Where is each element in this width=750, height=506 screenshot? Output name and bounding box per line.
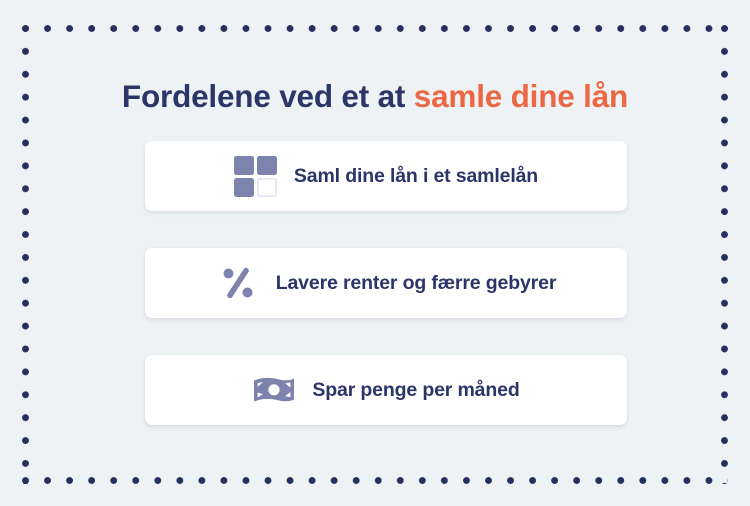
page-title-navy-part: Fordelene ved et at — [122, 78, 414, 114]
border-dots-top — [22, 25, 728, 32]
benefit-card-label: Lavere renter og færre gebyrer — [276, 272, 557, 295]
benefit-card-saml-dine-laan[interactable]: Saml dine lån i et samlelån — [145, 141, 627, 211]
grid-squares-icon-shape — [234, 156, 277, 197]
grid-square-bottom-right — [257, 178, 277, 197]
grid-square-top-right — [257, 156, 277, 175]
grid-square-top-left — [234, 156, 254, 175]
banknote-icon — [252, 368, 296, 412]
benefit-card-list: Saml dine lån i et samlelån Lavere rente… — [145, 141, 627, 425]
percent-icon — [216, 261, 260, 305]
benefit-card-label: Spar penge per måned — [312, 379, 519, 402]
banknote-icon-shape — [252, 374, 296, 406]
percent-icon-shape — [218, 263, 258, 303]
benefit-card-content: Saml dine lån i et samlelån — [234, 154, 538, 198]
infographic-root: Fordelene ved et at samle dine lån Saml … — [0, 0, 750, 506]
benefit-card-spar-penge[interactable]: Spar penge per måned — [145, 355, 627, 425]
border-dots-bottom — [22, 477, 728, 484]
grid-squares-icon — [234, 154, 278, 198]
benefit-card-content: Spar penge per måned — [252, 368, 519, 412]
page-title: Fordelene ved et at samle dine lån — [0, 77, 750, 116]
benefit-card-lavere-renter[interactable]: Lavere renter og færre gebyrer — [145, 248, 627, 318]
benefit-card-label: Saml dine lån i et samlelån — [294, 165, 538, 188]
grid-square-bottom-left — [234, 178, 254, 197]
benefit-card-content: Lavere renter og færre gebyrer — [216, 261, 557, 305]
page-title-orange-part: samle dine lån — [414, 78, 628, 114]
